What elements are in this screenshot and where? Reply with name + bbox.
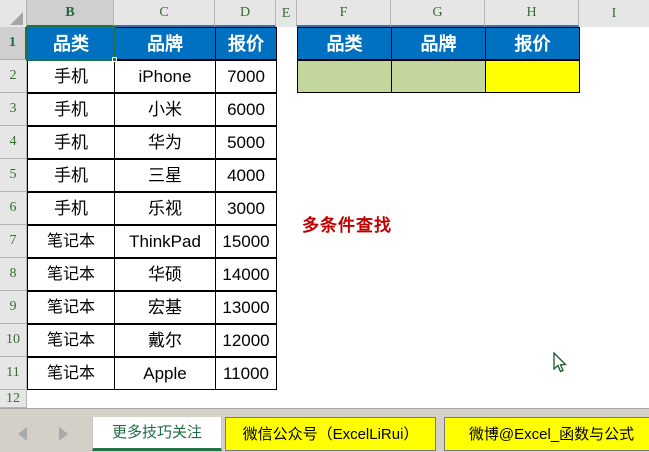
- sheet-tab-1-label: 更多技巧关注: [112, 425, 202, 440]
- cell-B5[interactable]: 手机: [27, 159, 115, 192]
- cell-G1-text: 品牌: [421, 35, 457, 53]
- cell-D2-text: 7000: [227, 68, 265, 85]
- column-header-b[interactable]: B: [27, 0, 114, 27]
- cell-D9-text: 13000: [222, 299, 269, 316]
- row-header-6[interactable]: 6: [0, 192, 27, 225]
- column-header-d[interactable]: D: [215, 0, 276, 27]
- cell-D10-text: 12000: [222, 332, 269, 349]
- cell-D1-text: 报价: [228, 35, 264, 53]
- row-header-8-label: 8: [10, 267, 17, 281]
- column-header-e[interactable]: E: [276, 0, 297, 27]
- cell-D6-text: 3000: [227, 200, 265, 217]
- row-header-7[interactable]: 7: [0, 225, 27, 258]
- column-header-h[interactable]: H: [485, 0, 579, 27]
- triangle-left-icon[interactable]: [18, 427, 27, 441]
- row-header-9[interactable]: 9: [0, 291, 27, 324]
- cell-C8[interactable]: 华硕: [114, 258, 216, 291]
- cell-D7[interactable]: 15000: [215, 225, 277, 258]
- cell-D1[interactable]: 报价: [215, 27, 277, 60]
- cell-B3[interactable]: 手机: [27, 93, 115, 126]
- cell-B6[interactable]: 手机: [27, 192, 115, 225]
- row-header-9-label: 9: [10, 300, 17, 314]
- cell-C9-text: 宏基: [148, 299, 182, 316]
- cell-C5[interactable]: 三星: [114, 159, 216, 192]
- sheet-tab-2[interactable]: 微信公众号（ExcelLiRui）: [225, 417, 436, 451]
- cell-B7-text: 笔记本: [47, 234, 95, 250]
- column-header-i[interactable]: I: [579, 0, 649, 27]
- column-header-g[interactable]: G: [391, 0, 485, 27]
- cell-C8-text: 华硕: [148, 266, 182, 283]
- cell-B10[interactable]: 笔记本: [27, 324, 115, 357]
- row-header-11-label: 11: [6, 366, 19, 380]
- sheet-tab-2-label: 微信公众号（ExcelLiRui）: [243, 427, 419, 442]
- cell-C2-text: iPhone: [139, 68, 192, 85]
- column-header-b-label: B: [65, 6, 74, 20]
- cell-H1[interactable]: 报价: [485, 27, 580, 60]
- row-header-1-label: 1: [9, 36, 16, 50]
- cell-G1[interactable]: 品牌: [391, 27, 486, 60]
- cell-B10-text: 笔记本: [47, 333, 95, 349]
- triangle-right-icon[interactable]: [59, 427, 68, 441]
- cell-B1[interactable]: 品类: [27, 27, 115, 60]
- row-header-6-label: 6: [10, 201, 17, 215]
- cell-C3[interactable]: 小米: [114, 93, 216, 126]
- select-all-triangle-icon: [10, 12, 23, 25]
- column-header-h-label: H: [526, 6, 536, 20]
- row-header-5[interactable]: 5: [0, 159, 27, 192]
- cell-B8[interactable]: 笔记本: [27, 258, 115, 291]
- cell-C11[interactable]: Apple: [114, 357, 216, 390]
- row-header-10-label: 10: [6, 333, 20, 347]
- cell-B11[interactable]: 笔记本: [27, 357, 115, 390]
- sheet-tab-bar: 更多技巧关注 微信公众号（ExcelLiRui） 微博@Excel_函数与公式: [0, 408, 649, 452]
- cell-H1-text: 报价: [515, 35, 551, 53]
- row-header-7-label: 7: [10, 234, 17, 248]
- row-header-4-label: 4: [10, 135, 17, 149]
- row-header-4[interactable]: 4: [0, 126, 27, 159]
- column-header-d-label: D: [240, 6, 250, 20]
- cell-F1[interactable]: 品类: [297, 27, 392, 60]
- cell-B2-text: 手机: [54, 68, 88, 85]
- row-header-2-label: 2: [10, 69, 17, 83]
- cell-C10-text: 戴尔: [148, 332, 182, 349]
- cell-B5-text: 手机: [54, 167, 88, 184]
- cell-B9[interactable]: 笔记本: [27, 291, 115, 324]
- cell-B2[interactable]: 手机: [27, 60, 115, 93]
- column-header-f-label: F: [340, 6, 348, 20]
- cell-C3-text: 小米: [148, 101, 182, 118]
- sheet-tab-3[interactable]: 微博@Excel_函数与公式: [444, 417, 649, 451]
- column-header-bar: B C D E F G H I: [0, 0, 649, 27]
- column-header-i-label: I: [612, 7, 617, 21]
- annotation-multi-condition-lookup: 多条件查找: [302, 217, 392, 234]
- cell-D5-text: 4000: [227, 167, 265, 184]
- row-header-12[interactable]: 12: [0, 390, 27, 408]
- cell-D5[interactable]: 4000: [215, 159, 277, 192]
- cell-D3[interactable]: 6000: [215, 93, 277, 126]
- cell-D11-text: 11000: [223, 365, 269, 382]
- annotation-text: 多条件查找: [302, 216, 392, 235]
- cell-C2[interactable]: iPhone: [114, 60, 216, 93]
- sheet-nav-buttons: [2, 418, 84, 450]
- cell-C6[interactable]: 乐视: [114, 192, 216, 225]
- row-header-1[interactable]: 1: [0, 27, 27, 60]
- cell-C4-text: 华为: [148, 134, 182, 151]
- cell-G2-brand-input[interactable]: [391, 60, 486, 93]
- row-header-2[interactable]: 2: [0, 60, 27, 93]
- cell-C11-text: Apple: [143, 365, 186, 382]
- cell-D7-text: 15000: [222, 233, 269, 250]
- sheet-tab-3-label: 微博@Excel_函数与公式: [469, 427, 634, 442]
- cell-D4[interactable]: 5000: [215, 126, 277, 159]
- column-header-g-label: G: [432, 6, 442, 20]
- column-header-f[interactable]: F: [297, 0, 391, 27]
- cell-C7-text: ThinkPad: [129, 233, 201, 250]
- cell-C1[interactable]: 品牌: [114, 27, 216, 60]
- cell-D8-text: 14000: [222, 266, 269, 283]
- column-header-c-label: C: [159, 6, 168, 20]
- spreadsheet-grid: 品类 品牌 报价 手机 iPhone 7000 手机 小米 6000 手机 华为…: [27, 27, 649, 408]
- cell-C4[interactable]: 华为: [114, 126, 216, 159]
- cell-D6[interactable]: 3000: [215, 192, 277, 225]
- row-header-5-label: 5: [10, 168, 17, 182]
- fill-handle[interactable]: [112, 57, 117, 62]
- select-all-corner[interactable]: [0, 0, 27, 27]
- row-header-12-label: 12: [6, 392, 20, 406]
- cell-C9[interactable]: 宏基: [114, 291, 216, 324]
- cell-B4-text: 手机: [54, 134, 88, 151]
- cell-D3-text: 6000: [227, 101, 265, 118]
- cell-D8[interactable]: 14000: [215, 258, 277, 291]
- cell-C5-text: 三星: [148, 167, 182, 184]
- cell-B4[interactable]: 手机: [27, 126, 115, 159]
- cell-F1-text: 品类: [327, 35, 363, 53]
- cell-D4-text: 5000: [227, 134, 265, 151]
- row-header-8[interactable]: 8: [0, 258, 27, 291]
- row-header-11[interactable]: 11: [0, 357, 27, 390]
- cell-C6-text: 乐视: [148, 200, 182, 217]
- column-header-c[interactable]: C: [114, 0, 215, 27]
- cell-B1-text: 品类: [53, 35, 89, 53]
- cell-C10[interactable]: 戴尔: [114, 324, 216, 357]
- cell-B11-text: 笔记本: [47, 366, 95, 382]
- cell-B6-text: 手机: [54, 200, 88, 217]
- cell-F2-category-input[interactable]: [297, 60, 392, 93]
- cell-B7[interactable]: 笔记本: [27, 225, 115, 258]
- excel-window: B C D E F G H I 1 2 3 4 5 6 7 8 9 10 11 …: [0, 0, 649, 452]
- row-header-3-label: 3: [10, 102, 17, 116]
- sheet-tab-1[interactable]: 更多技巧关注: [92, 417, 222, 451]
- cell-C7[interactable]: ThinkPad: [114, 225, 216, 258]
- column-header-e-label: E: [282, 7, 291, 21]
- cell-B3-text: 手机: [54, 101, 88, 118]
- cell-D11[interactable]: 11000: [215, 357, 277, 390]
- row-header-3[interactable]: 3: [0, 93, 27, 126]
- cell-D9[interactable]: 13000: [215, 291, 277, 324]
- cell-H2-result-price[interactable]: [485, 60, 580, 93]
- cell-D2[interactable]: 7000: [215, 60, 277, 93]
- row-header-10[interactable]: 10: [0, 324, 27, 357]
- cell-B9-text: 笔记本: [47, 300, 95, 316]
- cell-B8-text: 笔记本: [47, 267, 95, 283]
- cell-C1-text: 品牌: [147, 35, 183, 53]
- cell-D10[interactable]: 12000: [215, 324, 277, 357]
